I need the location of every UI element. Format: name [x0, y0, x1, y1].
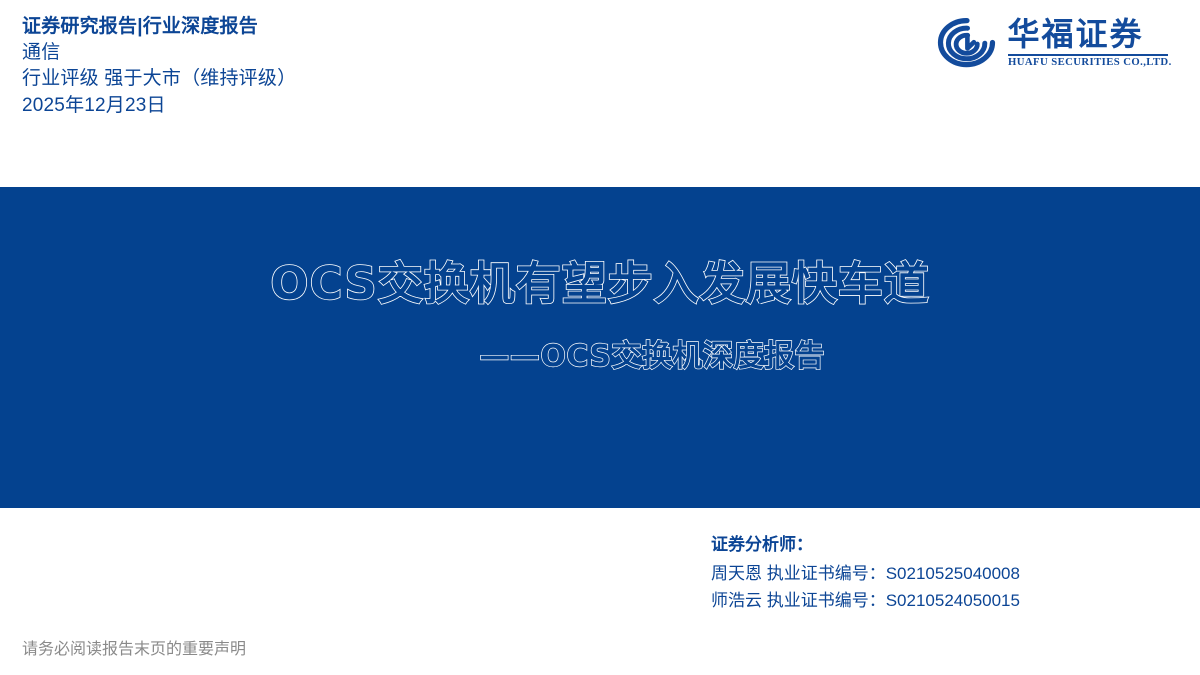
header-meta-block: 证券研究报告|行业深度报告 通信 行业评级 强于大市（维持评级） 2025年12…	[22, 14, 296, 119]
logo-wordmark: 华福证券 HUAFU SECURITIES CO.,LTD.	[1008, 18, 1168, 67]
cover-header: 证券研究报告|行业深度报告 通信 行业评级 强于大市（维持评级） 2025年12…	[0, 0, 1200, 187]
huafu-spiral-mark-icon	[936, 18, 998, 68]
industry-rating-line: 行业评级 强于大市（维持评级）	[22, 66, 296, 92]
logo-english-name: HUAFU SECURITIES CO.,LTD.	[1008, 57, 1172, 68]
footer-disclaimer: 请务必阅读报告末页的重要声明	[22, 640, 246, 661]
analyst-row: 周天恩 执业证书编号：S0210525040008	[711, 560, 1020, 587]
company-logo: 华福证券 HUAFU SECURITIES CO.,LTD.	[936, 18, 1168, 68]
cover-title-band: OCS交换机有望步入发展快车道 ——OCS交换机深度报告	[0, 187, 1200, 508]
report-title: OCS交换机有望步入发展快车道	[0, 257, 1200, 311]
logo-chinese-name: 华福证券	[1008, 18, 1168, 52]
report-kind-line: 证券研究报告|行业深度报告	[22, 14, 296, 40]
report-subtitle: ——OCS交换机深度报告	[479, 339, 825, 375]
report-cover-page: 证券研究报告|行业深度报告 通信 行业评级 强于大市（维持评级） 2025年12…	[0, 0, 1200, 675]
analyst-block: 证券分析师： 周天恩 执业证书编号：S0210525040008 师浩云 执业证…	[711, 532, 1020, 614]
industry-line: 通信	[22, 40, 296, 66]
analyst-block-heading: 证券分析师：	[711, 532, 1020, 558]
logo-divider-rule	[1008, 54, 1168, 56]
analyst-row: 师浩云 执业证书编号：S0210524050015	[711, 587, 1020, 614]
report-date-line: 2025年12月23日	[22, 93, 296, 119]
